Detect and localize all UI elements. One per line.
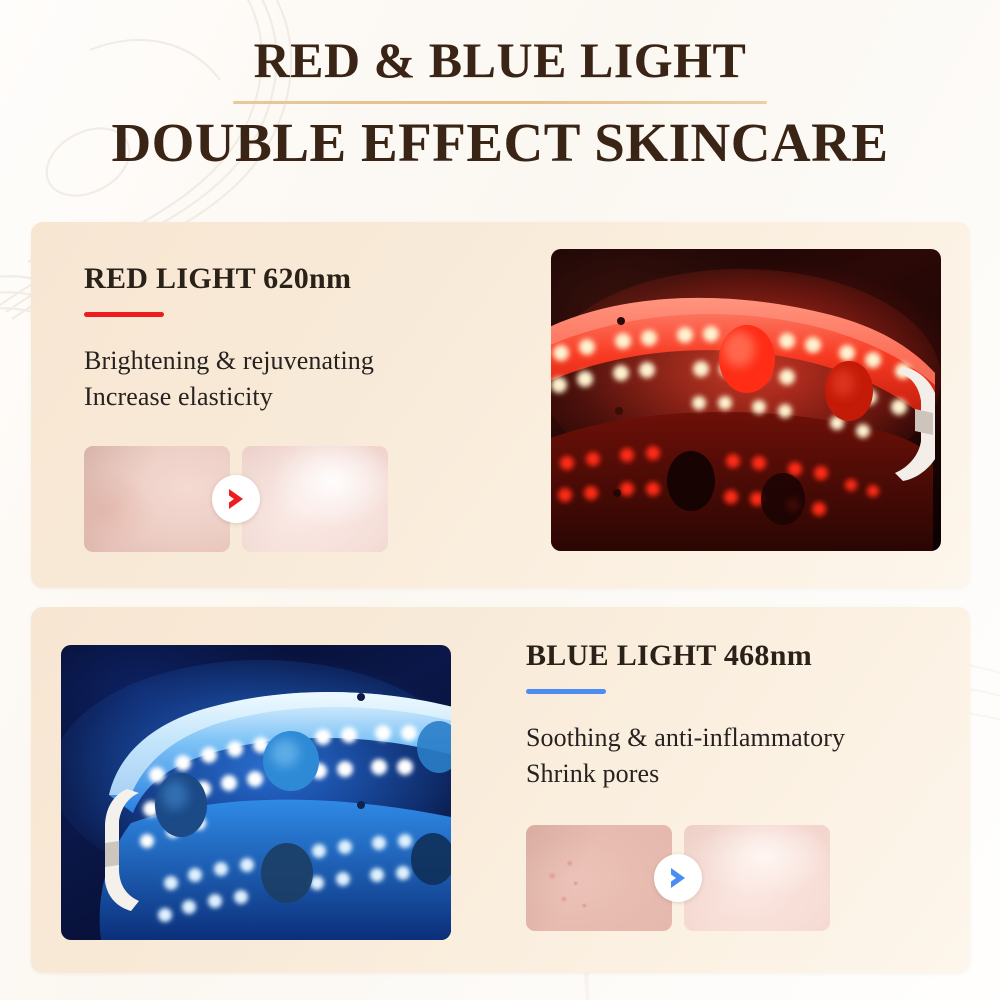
blue-before-after <box>526 825 830 931</box>
red-light-body-line-2: Increase elasticity <box>84 379 374 415</box>
blue-light-text-pane: BLUE LIGHT 468nm Soothing & anti-inflamm… <box>471 607 970 973</box>
blue-light-accent-rule <box>526 689 606 694</box>
blue-chevron-right-icon <box>654 854 702 902</box>
infographic-page: RED & BLUE LIGHT DOUBLE EFFECT SKINCARE … <box>0 0 1000 1000</box>
red-after-photo <box>242 446 388 552</box>
red-chevron-right-icon <box>212 475 260 523</box>
blue-light-body: Soothing & anti-inflammatory Shrink pore… <box>526 720 845 792</box>
red-light-body: Brightening & rejuvenating Increase elas… <box>84 343 374 415</box>
blue-before-photo <box>526 825 672 931</box>
page-title-line-1: RED & BLUE LIGHT <box>0 34 1000 87</box>
red-led-mask-illustration <box>551 249 941 551</box>
red-light-text-pane: RED LIGHT 620nm Brightening & rejuvenati… <box>31 222 551 588</box>
page-header: RED & BLUE LIGHT DOUBLE EFFECT SKINCARE <box>0 34 1000 172</box>
blue-led-mask-photo <box>61 645 451 940</box>
red-before-photo <box>84 446 230 552</box>
red-before-after <box>84 446 388 552</box>
blue-led-mask-illustration <box>61 645 451 940</box>
red-light-accent-rule <box>84 312 164 317</box>
title-divider <box>233 101 767 104</box>
blue-light-body-line-1: Soothing & anti-inflammatory <box>526 720 845 756</box>
blue-light-heading: BLUE LIGHT 468nm <box>526 639 845 673</box>
chevron-right-icon <box>666 865 690 891</box>
red-led-mask-photo <box>551 249 941 551</box>
chevron-right-icon <box>224 486 248 512</box>
page-title-line-2: DOUBLE EFFECT SKINCARE <box>0 114 1000 172</box>
blue-after-photo <box>684 825 830 931</box>
red-light-body-line-1: Brightening & rejuvenating <box>84 343 374 379</box>
blue-light-body-line-2: Shrink pores <box>526 756 845 792</box>
red-light-heading: RED LIGHT 620nm <box>84 262 374 296</box>
